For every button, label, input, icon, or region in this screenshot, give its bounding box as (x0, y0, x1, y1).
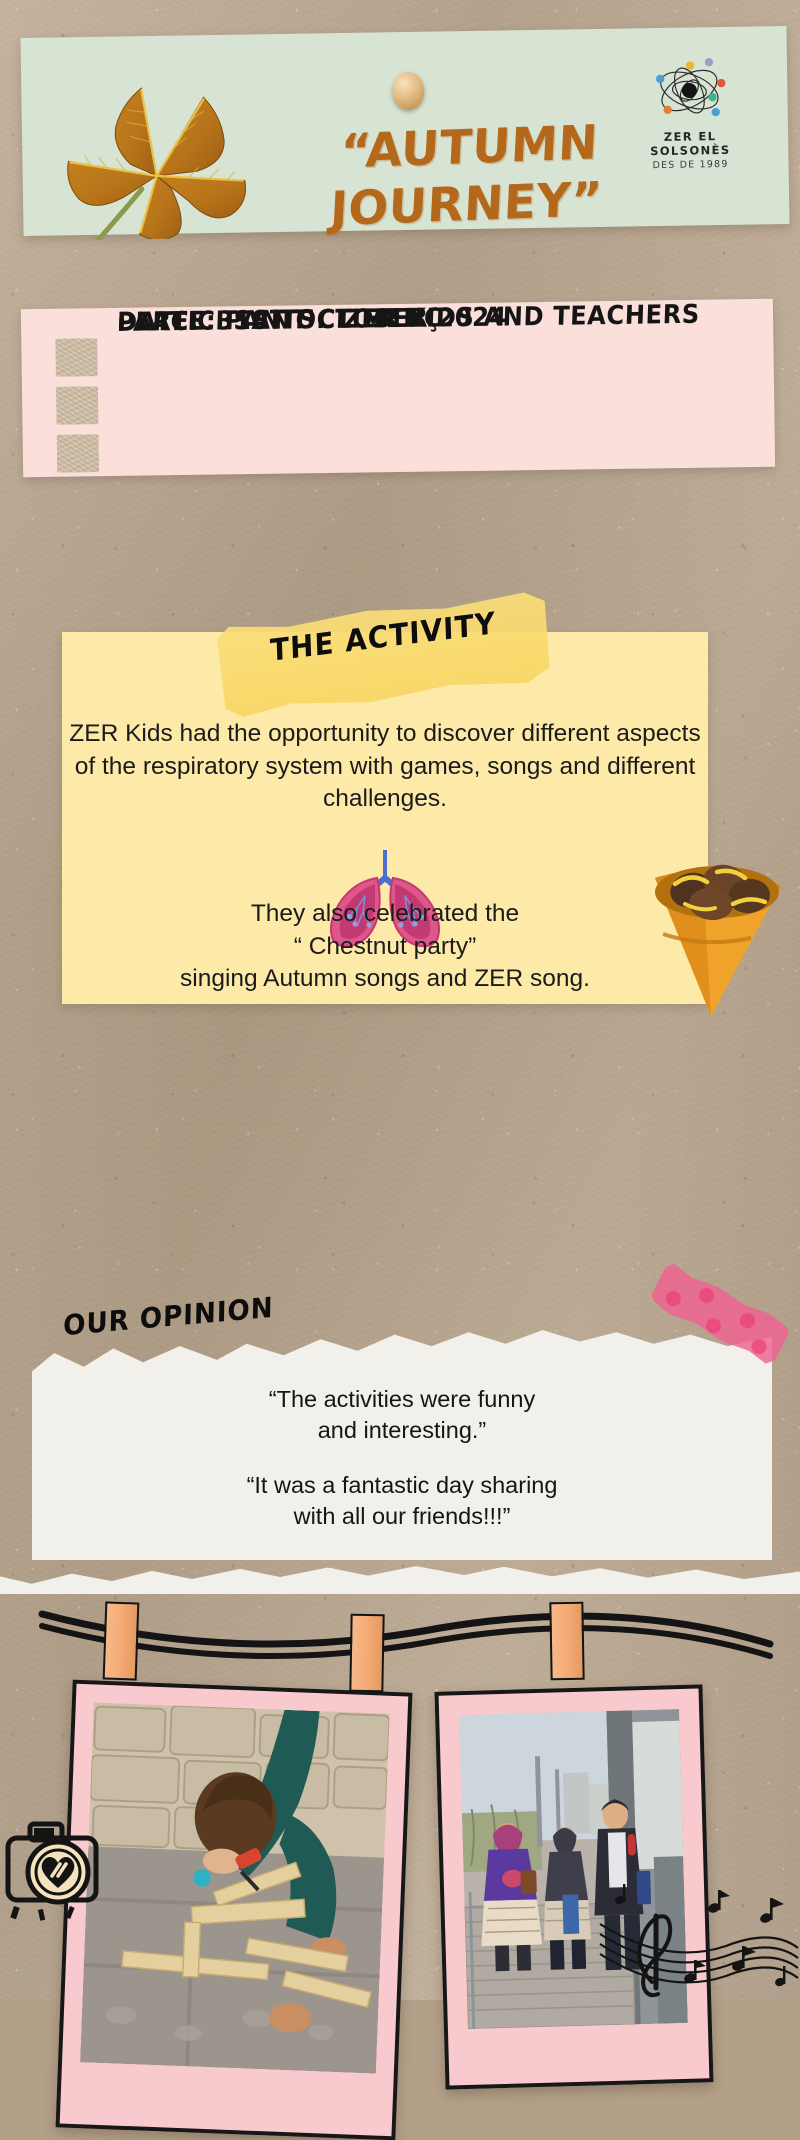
pushpin-icon (392, 72, 425, 110)
atom-orbit-icon (639, 53, 740, 129)
clothespin-icon (349, 1614, 384, 1693)
opinion-quote-1: “The activities were funny and interesti… (32, 1384, 772, 1445)
logo-subtitle: DES DE 1989 (626, 159, 754, 172)
photo-image (80, 1702, 390, 2073)
opinion-heading: OUR OPINION (63, 1291, 274, 1343)
info-value-participants: ZER KIDS AND TEACHERS (343, 300, 700, 335)
music-notes-icon (596, 1870, 800, 2000)
activity-paragraph-2: They also celebrated the “ Chestnut part… (62, 898, 708, 996)
poster-canvas: “AUTUMN JOURNEY” Z (0, 0, 800, 2000)
quote-2-line-1: “It was a fantastic day sharing (32, 1470, 772, 1501)
info-row-participants: PARTICIPANTS: ZER KIDS AND TEACHERS (117, 299, 744, 338)
title-line-2: JOURNEY” (300, 170, 633, 240)
clothespin-icon (103, 1601, 140, 1680)
page-title: “AUTUMN JOURNEY” (300, 113, 636, 240)
activity-paragraph-1: ZER Kids had the opportunity to discover… (62, 718, 708, 816)
chestnut-leaf-icon (63, 62, 276, 240)
kraft-square-marker (55, 338, 98, 377)
kraft-square-marker (56, 386, 99, 425)
quote-1-line-1: “The activities were funny (32, 1384, 772, 1415)
info-card: PLACE: SANT CLIMENÇ DATE: 31ST OCTOBER 2… (21, 299, 775, 477)
quote-2-line-2: with all our friends!!!” (32, 1501, 772, 1532)
camera-heart-icon (2, 1810, 114, 1922)
activity-p2-line-1: They also celebrated the (62, 898, 708, 931)
kraft-square-marker (57, 434, 100, 473)
chestnut-cone-icon (645, 860, 793, 1020)
zer-logo: ZER EL SOLSONÈS DES DE 1989 (625, 53, 755, 173)
info-label-participants: PARTICIPANTS: (117, 305, 327, 338)
quote-1-line-2: and interesting.” (32, 1415, 772, 1446)
torn-paper-edge (0, 1560, 800, 1594)
activity-p2-line-3: singing Autumn songs and ZER song. (62, 963, 708, 996)
clothespin-icon (549, 1602, 584, 1681)
logo-name: ZER EL SOLSONÈS (626, 129, 754, 159)
opinion-quote-2: “It was a fantastic day sharing with all… (32, 1470, 772, 1531)
activity-p2-line-2: “ Chestnut party” (62, 931, 708, 964)
header-card: “AUTUMN JOURNEY” Z (20, 26, 789, 236)
